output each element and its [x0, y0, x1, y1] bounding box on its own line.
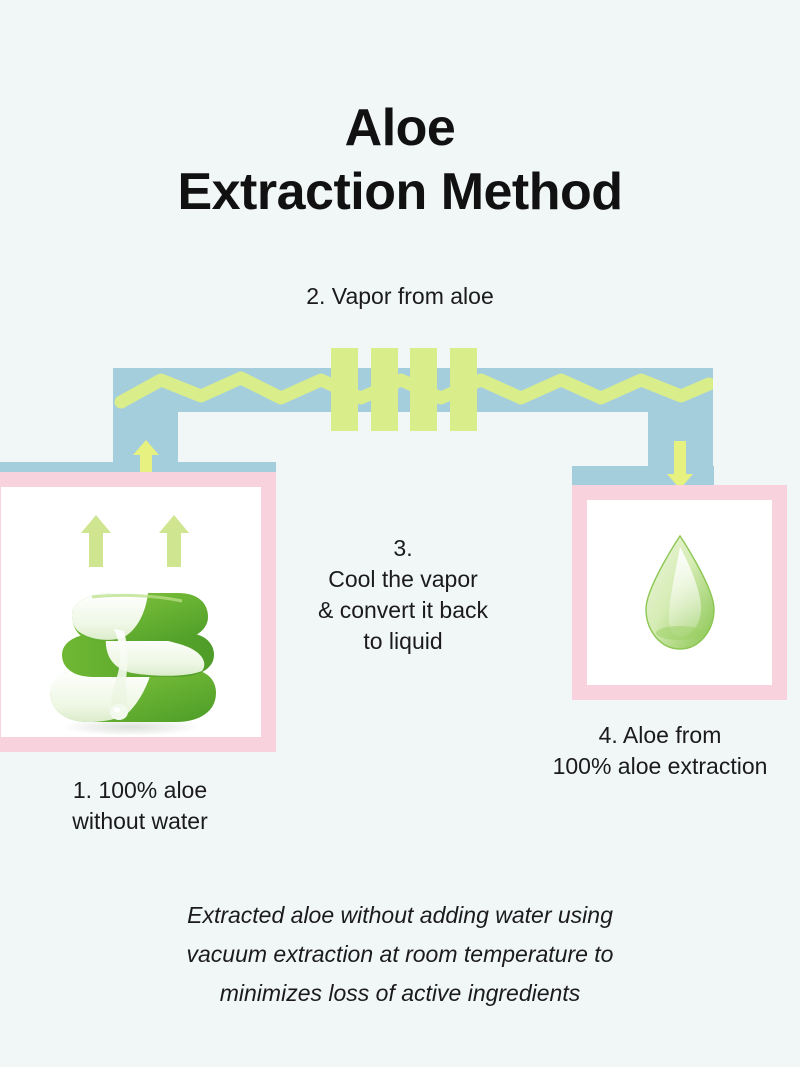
title-line-1: Aloe: [0, 96, 800, 160]
page-title: Aloe Extraction Method: [0, 96, 800, 224]
condenser-fins: [331, 348, 477, 431]
left-chamber-box: [0, 472, 276, 752]
step-3-caption: 3. Cool the vapor & convert it back to l…: [290, 533, 516, 657]
step-1-line-1: 1. 100% aloe: [0, 775, 280, 806]
footer-note: Extracted aloe without adding water usin…: [90, 896, 710, 1013]
footer-line-1: Extracted aloe without adding water usin…: [90, 896, 710, 935]
footer-line-3: minimizes loss of active ingredients: [90, 974, 710, 1013]
left-chamber-inner: [1, 487, 261, 737]
step-3-line-4: to liquid: [290, 626, 516, 657]
step-3-line-3: & convert it back: [290, 595, 516, 626]
step-3-line-2: Cool the vapor: [290, 564, 516, 595]
title-line-2: Extraction Method: [0, 160, 800, 224]
aloe-droplet-illustration: [635, 533, 725, 653]
step-4-caption: 4. Aloe from 100% aloe extraction: [520, 720, 800, 782]
condenser-fin: [371, 348, 398, 431]
footer-line-2: vacuum extraction at room temperature to: [90, 935, 710, 974]
aloe-slices-illustration: [36, 585, 226, 735]
arrow-up-left-box-2-icon: [159, 515, 189, 567]
infographic-canvas: Aloe Extraction Method 2. Vapor from alo…: [0, 0, 800, 1067]
condenser-fin: [450, 348, 477, 431]
step-4-line-1: 4. Aloe from: [520, 720, 800, 751]
step-4-line-2: 100% aloe extraction: [520, 751, 800, 782]
condenser-fin: [410, 348, 437, 431]
right-collector-inner: [587, 500, 772, 685]
arrow-up-left-box-1-icon: [81, 515, 111, 567]
step-1-line-2: without water: [0, 806, 280, 837]
right-collector-box: [572, 485, 787, 700]
arrow-down-pipe-right-icon: [667, 441, 693, 489]
step-1-caption: 1. 100% aloe without water: [0, 775, 280, 837]
condenser-fin: [331, 348, 358, 431]
step-3-line-1: 3.: [290, 533, 516, 564]
step-2-caption: 2. Vapor from aloe: [0, 281, 800, 311]
